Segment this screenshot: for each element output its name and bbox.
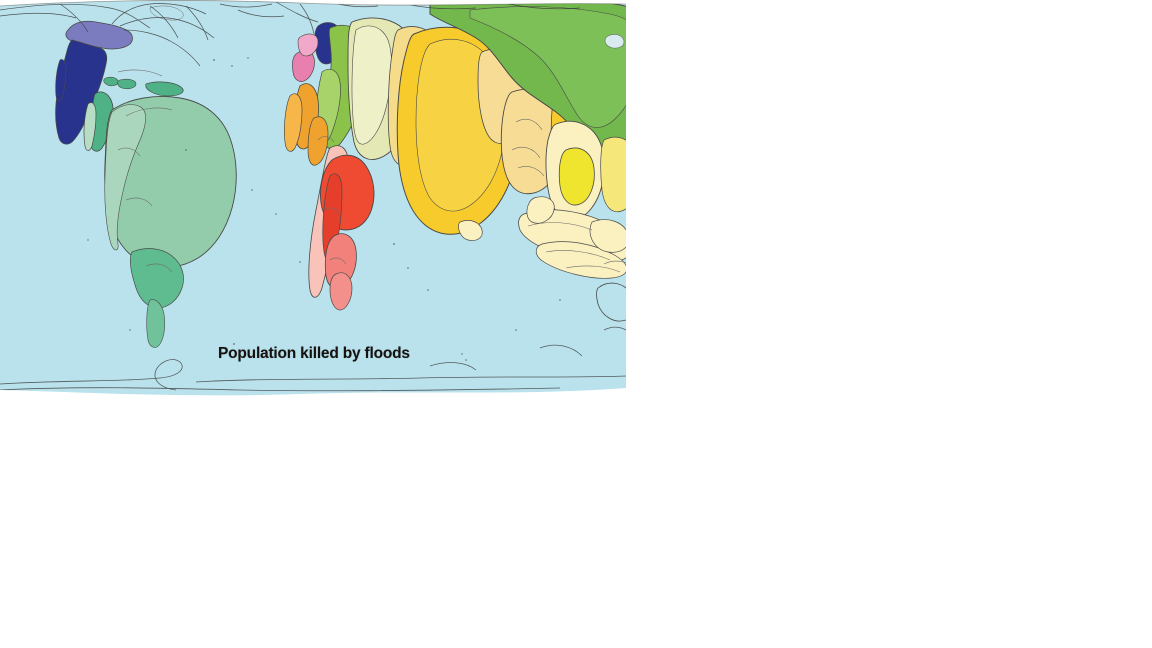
cartogram-figure: Population killed by floods	[0, 0, 626, 396]
territory-china-islands	[605, 34, 624, 48]
figure-title: Population killed by floods	[218, 345, 410, 363]
cartogram-svg	[0, 0, 626, 396]
territory-philippines	[601, 137, 626, 212]
territory-caribbean-2	[118, 79, 136, 89]
page-root: Population killed by floods	[0, 0, 1152, 648]
map-body	[0, 0, 626, 396]
